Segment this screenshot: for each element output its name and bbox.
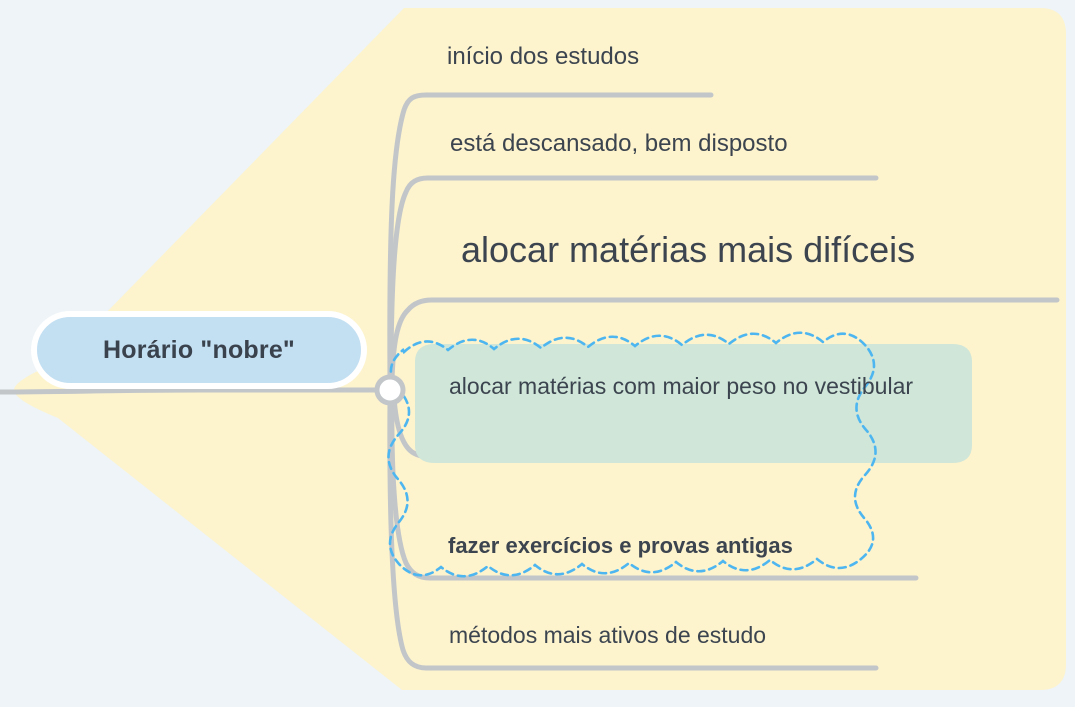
mindmap-canvas: Horário "nobre" início dos estudos está … (0, 0, 1075, 707)
selected-node-fill (415, 344, 972, 463)
node-label-inicio-dos-estudos[interactable]: início dos estudos (447, 42, 639, 71)
parent-connector (0, 390, 377, 392)
node-label-fazer-exercicios-e-provas-antigas[interactable]: fazer exercícios e provas antigas (448, 533, 793, 560)
node-label-alocar-materias-mais-dificeis[interactable]: alocar matérias mais difíceis (461, 228, 915, 272)
root-node[interactable]: Horário "nobre" (31, 311, 367, 389)
node-label-esta-descansado-bem-disposto[interactable]: está descansado, bem disposto (450, 129, 788, 158)
root-node-label: Horário "nobre" (103, 336, 295, 365)
node-label-alocar-materias-com-maior-peso-no-vestibular[interactable]: alocar matérias com maior peso no vestib… (449, 372, 939, 400)
node-label-metodos-mais-ativos-de-estudo[interactable]: métodos mais ativos de estudo (449, 621, 766, 649)
branch-junction-node[interactable] (377, 377, 403, 403)
